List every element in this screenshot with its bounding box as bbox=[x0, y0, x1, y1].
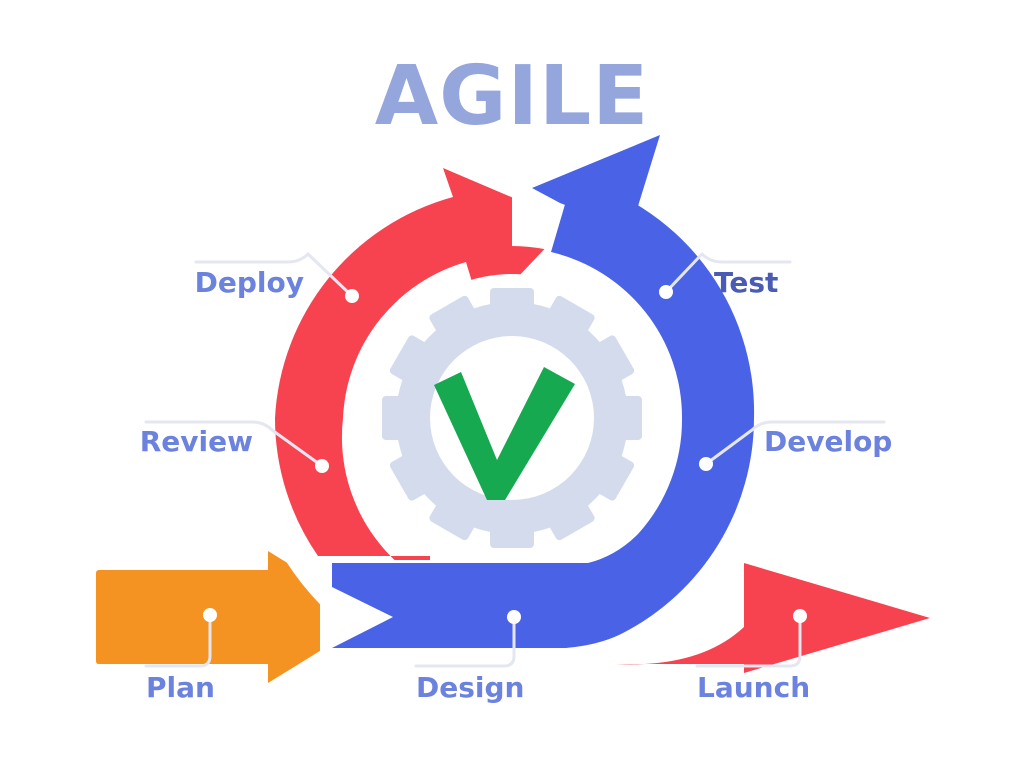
gear-icon bbox=[368, 274, 656, 562]
page-title: AGILE bbox=[375, 49, 650, 144]
stage-label-plan[interactable]: Plan bbox=[146, 671, 215, 704]
stage-label-deploy[interactable]: Deploy bbox=[195, 266, 304, 299]
infographic-canvas: AGILE bbox=[0, 0, 1024, 768]
anchor-dot-deploy bbox=[345, 289, 359, 303]
stage-label-test[interactable]: Test bbox=[714, 266, 778, 299]
anchor-dot-develop bbox=[699, 457, 713, 471]
stage-label-develop[interactable]: Develop bbox=[764, 425, 892, 458]
anchor-dot-design bbox=[507, 610, 521, 624]
anchor-dot-plan bbox=[203, 608, 217, 622]
agile-cycle-diagram: AGILE bbox=[0, 0, 1024, 768]
anchor-dot-test bbox=[659, 285, 673, 299]
stage-label-launch[interactable]: Launch bbox=[697, 671, 810, 704]
stage-label-design[interactable]: Design bbox=[416, 671, 524, 704]
stage-label-review[interactable]: Review bbox=[140, 425, 253, 458]
anchor-dot-launch bbox=[793, 609, 807, 623]
anchor-dot-review bbox=[315, 459, 329, 473]
